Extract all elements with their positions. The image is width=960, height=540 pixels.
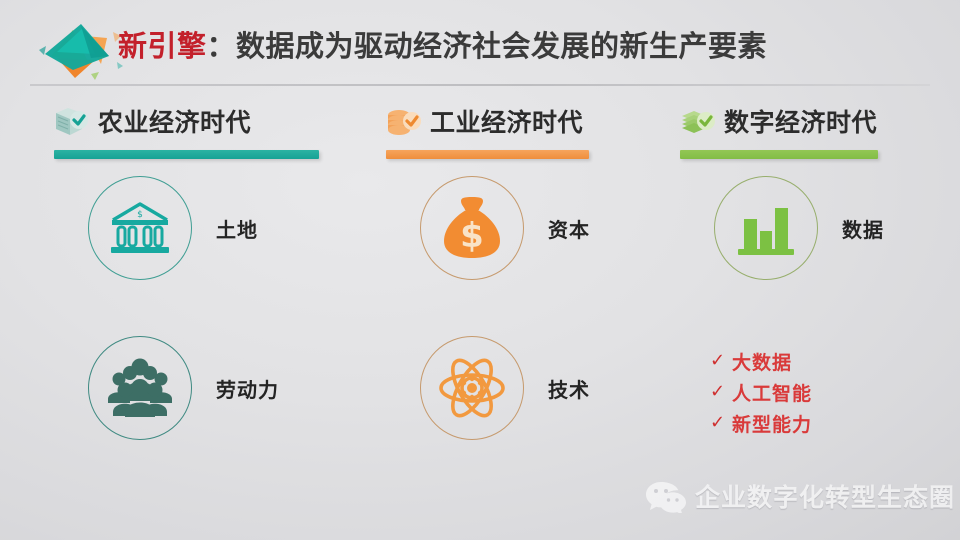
check-icon: ✓ bbox=[710, 383, 732, 401]
bar-chart-icon bbox=[733, 197, 799, 259]
icon-circle-data bbox=[714, 176, 818, 280]
column-header-industrial: 工业经济时代 bbox=[378, 98, 678, 158]
stacked-coins-check-icon bbox=[384, 104, 424, 140]
abstract-triangles-logo-icon bbox=[33, 12, 129, 84]
item-label-labor: 劳动力 bbox=[216, 374, 279, 403]
checklist-label-big-data: 大数据 bbox=[732, 348, 792, 375]
icon-circle-land: $ bbox=[88, 176, 192, 280]
money-bag-dollar-icon: $ bbox=[441, 195, 503, 261]
column-accent-bar-industrial bbox=[386, 150, 589, 159]
watermark-text: 企业数字化转型生态圈 bbox=[695, 478, 955, 514]
column-agricultural: 农业经济时代 $ 土地 bbox=[46, 98, 346, 498]
column-industrial: 工业经济时代 $ 资本 bbox=[378, 98, 678, 498]
page-title-main: ：数据成为驱动经济社会发展的新生产要素 bbox=[207, 29, 768, 63]
icon-circle-labor bbox=[88, 336, 192, 440]
item-label-technology: 技术 bbox=[548, 374, 590, 403]
column-header-agricultural: 农业经济时代 bbox=[46, 98, 346, 158]
checklist-label-ai: 人工智能 bbox=[732, 379, 812, 406]
item-label-data: 数据 bbox=[842, 214, 884, 243]
icon-circle-technology bbox=[420, 336, 524, 440]
stacked-pages-check-icon bbox=[678, 104, 718, 140]
svg-text:$: $ bbox=[137, 210, 143, 220]
bank-building-icon: $ bbox=[107, 197, 173, 259]
atom-icon bbox=[437, 355, 507, 421]
wechat-bubbles-icon bbox=[645, 479, 687, 513]
digital-capability-checklist: ✓ 大数据 ✓ 人工智能 ✓ 新型能力 bbox=[710, 348, 940, 441]
slide-canvas: 新引擎：数据成为驱动经济社会发展的新生产要素 bbox=[0, 0, 960, 540]
slide-header: 新引擎：数据成为驱动经济社会发展的新生产要素 bbox=[0, 0, 960, 86]
item-label-capital: 资本 bbox=[548, 214, 590, 243]
checklist-item: ✓ 人工智能 bbox=[710, 379, 940, 405]
column-title-digital: 数字经济时代 bbox=[724, 103, 877, 139]
column-header-digital: 数字经济时代 bbox=[672, 98, 960, 158]
header-divider bbox=[30, 84, 930, 86]
people-group-icon bbox=[105, 357, 175, 419]
checklist-item: ✓ 新型能力 bbox=[710, 410, 940, 436]
checklist-label-new-capability: 新型能力 bbox=[732, 410, 812, 437]
column-accent-bar-agricultural bbox=[54, 150, 319, 159]
column-title-industrial: 工业经济时代 bbox=[430, 103, 583, 139]
svg-text:$: $ bbox=[460, 216, 484, 256]
page-title-accent: 新引擎 bbox=[118, 29, 207, 63]
stacked-books-check-icon bbox=[52, 104, 92, 140]
column-digital: 数字经济时代 数据 ✓ 大数据 ✓ 人工智能 bbox=[672, 98, 960, 498]
check-icon: ✓ bbox=[710, 414, 732, 432]
item-label-land: 土地 bbox=[216, 214, 258, 243]
column-accent-bar-digital bbox=[680, 150, 878, 159]
checklist-item: ✓ 大数据 bbox=[710, 348, 940, 374]
column-title-agricultural: 农业经济时代 bbox=[98, 103, 251, 139]
wechat-watermark: 企业数字化转型生态圈 bbox=[645, 478, 955, 514]
icon-circle-capital: $ bbox=[420, 176, 524, 280]
check-icon: ✓ bbox=[710, 352, 732, 370]
page-title: 新引擎：数据成为驱动经济社会发展的新生产要素 bbox=[118, 29, 767, 63]
